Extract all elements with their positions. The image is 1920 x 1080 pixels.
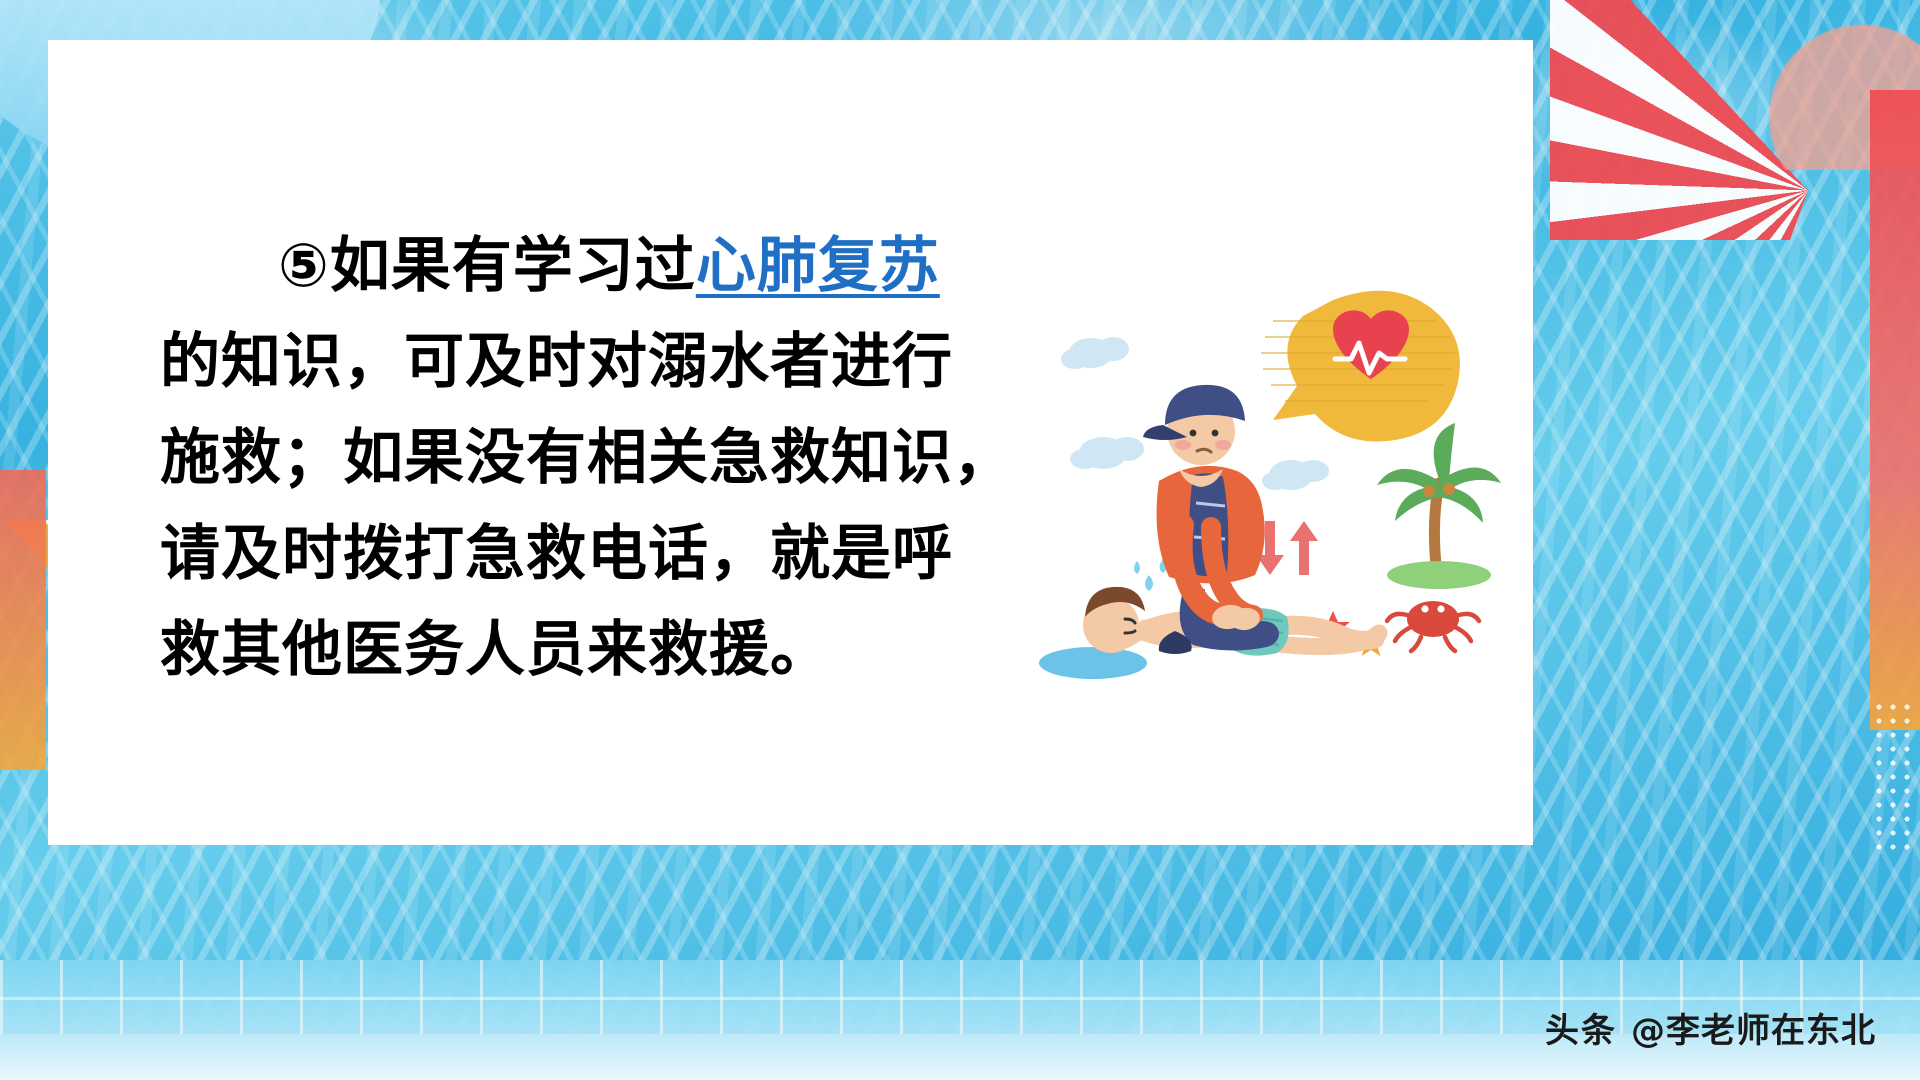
palm-tree-icon xyxy=(1377,423,1501,589)
heart-ecg-speech-bubble xyxy=(1261,291,1460,442)
cloud-icon xyxy=(1061,337,1129,369)
watermark: 头条 @李老师在东北 xyxy=(1545,1003,1876,1052)
cloud-icon xyxy=(1262,460,1329,490)
body-text-segment: 救其他医务人员来救援。 xyxy=(160,615,831,685)
body-line: 施救；如果没有相关急救知识， xyxy=(160,410,1040,506)
right-dot-pattern xyxy=(1872,700,1912,850)
slide-body-text: ⑤如果有学习过心肺复苏的知识，可及时对溺水者进行施救；如果没有相关急救知识，请及… xyxy=(160,218,1040,698)
slide-content-card: ⑤如果有学习过心肺复苏的知识，可及时对溺水者进行施救；如果没有相关急救知识，请及… xyxy=(48,40,1533,845)
body-text-segment: 请及时拨打急救电话，就是呼 xyxy=(160,519,953,589)
body-line: 请及时拨打急救电话，就是呼 xyxy=(160,506,1040,602)
body-text-segment: ⑤如果有学习过 xyxy=(278,231,696,301)
left-color-strip xyxy=(0,470,46,770)
crab-icon xyxy=(1387,601,1479,651)
up-down-arrows-icon xyxy=(1256,521,1318,575)
rescuer-figure xyxy=(1143,385,1279,654)
body-text-segment: 施救；如果没有相关急救知识， xyxy=(160,423,1014,493)
body-line: ⑤如果有学习过心肺复苏 xyxy=(160,218,1040,314)
cpr-rescue-beach-illustration xyxy=(1033,275,1553,705)
cloud-icon xyxy=(1070,437,1144,469)
highlight-term[interactable]: 心肺复苏 xyxy=(696,231,940,301)
water-droplet-icon xyxy=(1134,559,1167,591)
body-line: 救其他医务人员来救援。 xyxy=(160,602,1040,698)
watermark-brand: 头条 xyxy=(1545,1003,1617,1052)
body-text-segment: 的知识，可及时对溺水者进行 xyxy=(160,327,953,397)
watermark-handle: @李老师在东北 xyxy=(1631,1003,1876,1052)
right-color-strip xyxy=(1870,90,1920,730)
body-line: 的知识，可及时对溺水者进行 xyxy=(160,314,1040,410)
